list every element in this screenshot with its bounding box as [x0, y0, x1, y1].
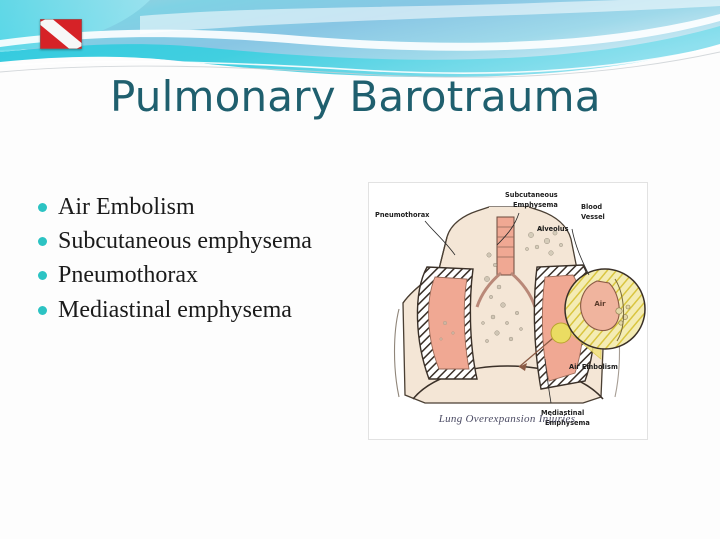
figure-caption: Lung Overexpansion Injuries [368, 413, 646, 425]
label-subcutaneous-2: Emphysema [513, 201, 558, 209]
inset-air-label: Air [594, 300, 606, 308]
label-subcutaneous-1: Subcutaneous [505, 191, 558, 199]
list-item: Air Embolism [34, 192, 334, 223]
slide-canvas: Pulmonary Barotrauma Air Embolism Subcut… [0, 0, 720, 539]
bullet-label: Mediastinal emphysema [58, 295, 292, 326]
label-alveolus: Alveolus [537, 225, 569, 233]
list-item: Mediastinal emphysema [34, 295, 334, 326]
bullet-dot-icon [38, 203, 47, 212]
scuba-dive-flag-icon [40, 19, 82, 49]
bullet-label: Air Embolism [58, 192, 195, 223]
bullet-dot-icon [38, 237, 47, 246]
bullet-label: Pneumothorax [58, 260, 198, 291]
list-item: Pneumothorax [34, 260, 334, 291]
label-pneumothorax: Pneumothorax [375, 211, 430, 219]
page-title: Pulmonary Barotrauma [110, 72, 670, 121]
bullet-label: Subcutaneous emphysema [58, 226, 312, 257]
label-blood-vessel-1: Blood [581, 203, 602, 211]
bullet-list: Air Embolism Subcutaneous emphysema Pneu… [34, 192, 334, 329]
bullet-dot-icon [38, 271, 47, 280]
bullet-dot-icon [38, 306, 47, 315]
label-blood-vessel-2: Vessel [581, 213, 605, 221]
list-item: Subcutaneous emphysema [34, 226, 334, 257]
label-air-embolism: Air Embolism [569, 363, 618, 371]
lung-overexpansion-diagram: Air Pneumothorax Subcutaneous Emphysema … [368, 182, 648, 440]
